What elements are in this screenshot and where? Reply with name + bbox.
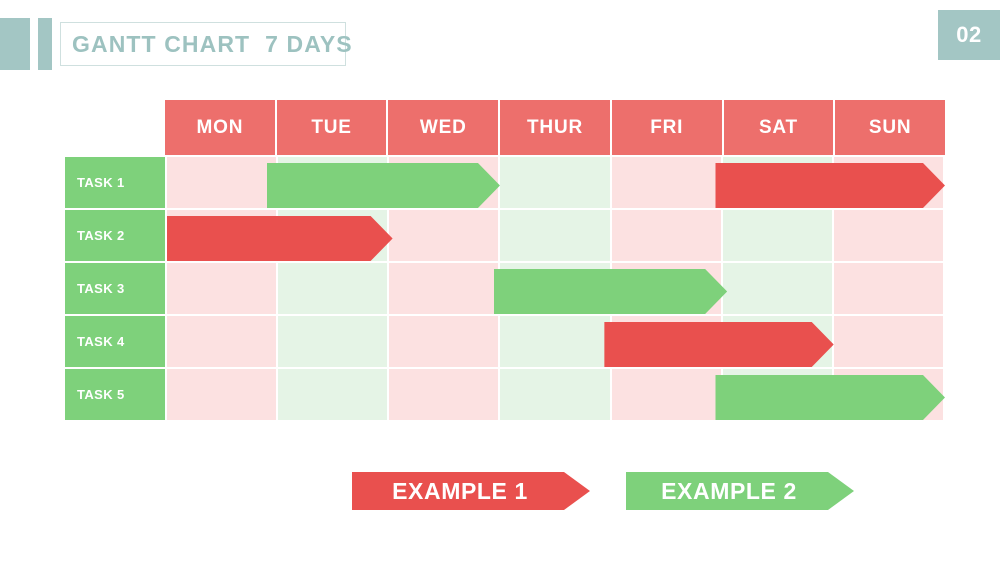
- grid-cell-wed: [389, 316, 498, 367]
- task-name-label: TASK 3: [65, 281, 125, 296]
- grid-cell-fri: [612, 210, 721, 261]
- grid-cell-tue: [278, 369, 387, 420]
- grid-cell-mon: [167, 157, 276, 208]
- task-track: [167, 369, 945, 420]
- task-name-label: TASK 4: [65, 334, 125, 349]
- task-row: TASK 2: [65, 210, 945, 261]
- grid-cell-fri: [612, 369, 721, 420]
- grid-cell-wed: [389, 263, 498, 314]
- gantt-bar-green[interactable]: [267, 163, 500, 208]
- day-header-label: FRI: [650, 117, 683, 139]
- day-header-cell-fri: FRI: [612, 100, 722, 155]
- grid-cell-thur: [500, 157, 609, 208]
- day-header-label: WED: [420, 117, 467, 139]
- gantt-bar-body: [267, 163, 500, 208]
- gantt-bar-body: [604, 322, 834, 367]
- day-header-cell-wed: WED: [388, 100, 498, 155]
- grid-cell-tue: [278, 263, 387, 314]
- legend-item-example-2[interactable]: EXAMPLE 2: [626, 472, 854, 510]
- grid-cell-thur: [500, 210, 609, 261]
- day-header-label: SAT: [759, 117, 798, 139]
- header-accent-block-narrow: [38, 18, 52, 70]
- grid-cell-thur: [500, 316, 609, 367]
- day-header-cell-thur: THUR: [500, 100, 610, 155]
- task-track: [167, 263, 945, 314]
- grid-cell-fri: [612, 157, 721, 208]
- header-accent-block-wide: [0, 18, 30, 70]
- grid-cell-mon: [167, 316, 276, 367]
- day-header-track: MONTUEWEDTHURFRISATSUN: [165, 100, 945, 155]
- grid-cell-sat: [723, 210, 832, 261]
- legend-item-example-1[interactable]: EXAMPLE 1: [352, 472, 590, 510]
- page-number-badge: 02: [938, 10, 1000, 60]
- task-row: TASK 4: [65, 316, 945, 367]
- task-row: TASK 1: [65, 157, 945, 208]
- day-header-label: SUN: [869, 117, 912, 139]
- page-number-label: 02: [956, 22, 981, 48]
- task-track: [167, 316, 945, 367]
- task-name-label: TASK 5: [65, 387, 125, 402]
- gantt-bar-green[interactable]: [715, 375, 945, 420]
- grid-cell-sun: [834, 263, 943, 314]
- legend-label-example-2: EXAMPLE 2: [661, 478, 819, 505]
- day-header-label: THUR: [527, 117, 583, 139]
- grid-cell-sun: [834, 210, 943, 261]
- gantt-bar-green[interactable]: [494, 269, 727, 314]
- task-name-cell-2[interactable]: TASK 2: [65, 210, 165, 261]
- page-title: GANTT CHART 7 DAYS: [61, 31, 353, 58]
- grid-cell-sun: [834, 316, 943, 367]
- day-header-label: TUE: [311, 117, 351, 139]
- task-rows: TASK 1TASK 2TASK 3TASK 4TASK 5: [65, 157, 945, 420]
- task-name-cell-1[interactable]: TASK 1: [65, 157, 165, 208]
- task-name-cell-4[interactable]: TASK 4: [65, 316, 165, 367]
- grid-cell-tue: [278, 316, 387, 367]
- task-name-label: TASK 2: [65, 228, 125, 243]
- gantt-bar-red[interactable]: [604, 322, 834, 367]
- gantt-bar-body: [715, 163, 945, 208]
- legend: EXAMPLE 1 EXAMPLE 2: [352, 472, 854, 510]
- grid-corner-cell: [65, 100, 165, 155]
- task-row: TASK 5: [65, 369, 945, 420]
- gantt-bar-red[interactable]: [167, 216, 393, 261]
- gantt-bar-body: [167, 216, 393, 261]
- day-header-cell-tue: TUE: [277, 100, 387, 155]
- task-row: TASK 3: [65, 263, 945, 314]
- grid-cell-thur: [500, 369, 609, 420]
- gantt-bar-body: [715, 375, 945, 420]
- gantt-bar-body: [494, 269, 727, 314]
- grid-cell-sat: [723, 263, 832, 314]
- task-name-label: TASK 1: [65, 175, 125, 190]
- grid-cell-wed: [389, 210, 498, 261]
- grid-cell-mon: [167, 263, 276, 314]
- grid-cell-wed: [389, 369, 498, 420]
- day-header-label: MON: [196, 117, 243, 139]
- day-header-cell-mon: MON: [165, 100, 275, 155]
- task-track: [167, 210, 945, 261]
- task-name-cell-3[interactable]: TASK 3: [65, 263, 165, 314]
- page-title-box: GANTT CHART 7 DAYS: [60, 22, 346, 66]
- gantt-bar-red[interactable]: [715, 163, 945, 208]
- gantt-chart: MONTUEWEDTHURFRISATSUN TASK 1TASK 2TASK …: [65, 100, 945, 420]
- day-header-cell-sat: SAT: [724, 100, 834, 155]
- task-name-cell-5[interactable]: TASK 5: [65, 369, 165, 420]
- day-header-cell-sun: SUN: [835, 100, 945, 155]
- day-header-row: MONTUEWEDTHURFRISATSUN: [65, 100, 945, 155]
- grid-cell-mon: [167, 369, 276, 420]
- task-track: [167, 157, 945, 208]
- legend-label-example-1: EXAMPLE 1: [392, 478, 550, 505]
